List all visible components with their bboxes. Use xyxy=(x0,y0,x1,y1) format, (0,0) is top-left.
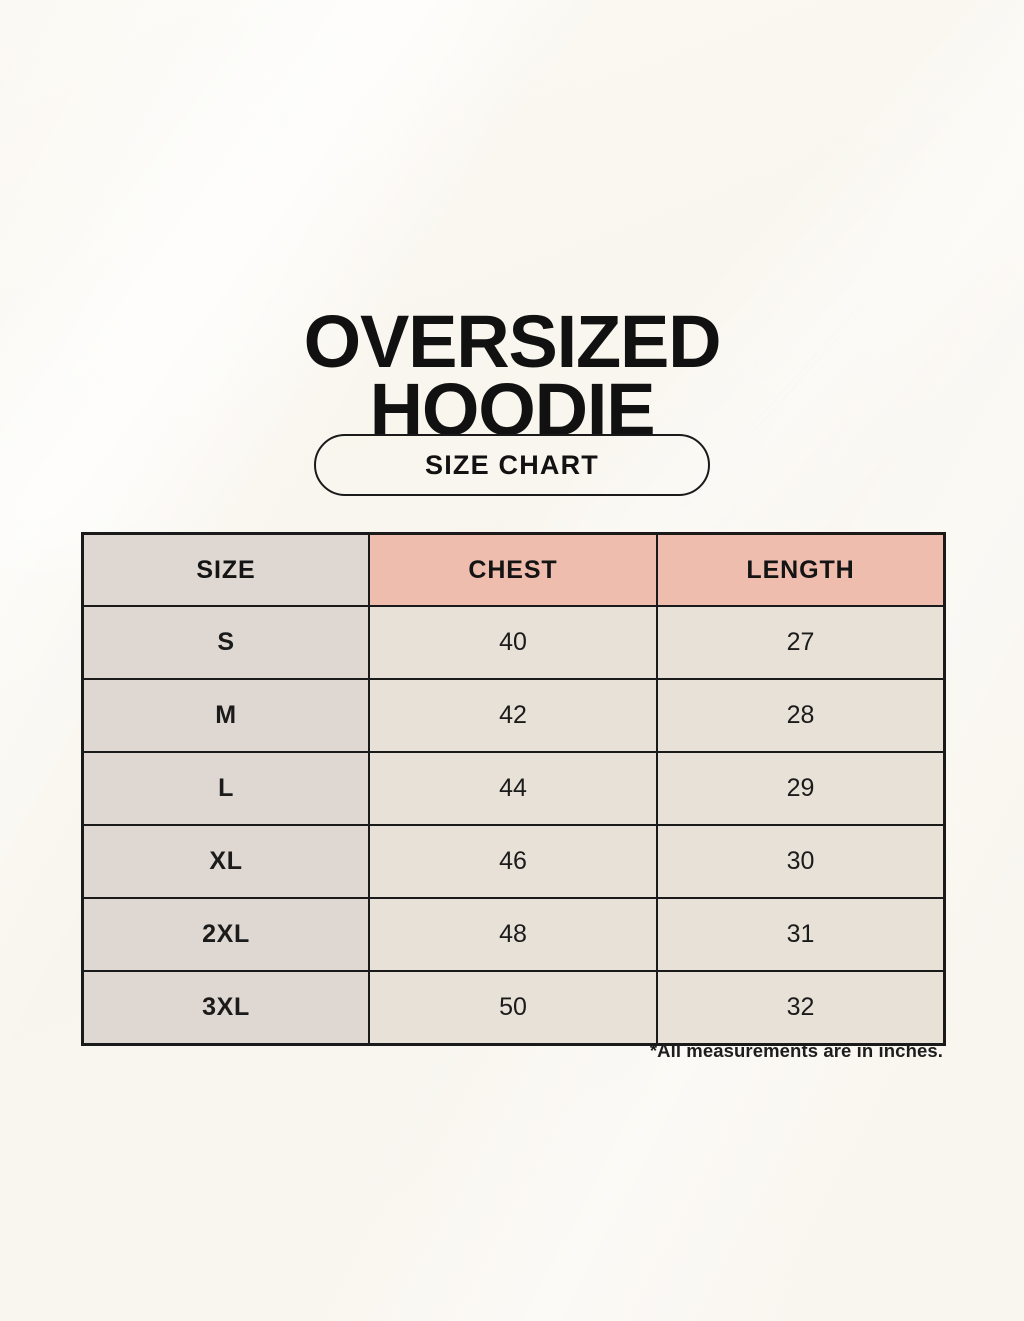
cell-length: 31 xyxy=(657,898,944,971)
size-chart-poster: OVERSIZED HOODIE SIZE CHART SIZE CHEST L… xyxy=(0,0,1024,1321)
cell-size: M xyxy=(83,679,369,752)
cell-chest: 44 xyxy=(369,752,657,825)
cell-chest: 46 xyxy=(369,825,657,898)
cell-length: 27 xyxy=(657,606,944,679)
table-row: 3XL 50 32 xyxy=(83,971,944,1044)
cell-length: 29 xyxy=(657,752,944,825)
column-header-chest: CHEST xyxy=(369,534,657,606)
badge-container: SIZE CHART xyxy=(0,434,1024,496)
table-row: XL 46 30 xyxy=(83,825,944,898)
cell-size: 2XL xyxy=(83,898,369,971)
size-chart-table: SIZE CHEST LENGTH S 40 27 M 42 28 xyxy=(82,533,945,1045)
cell-size: L xyxy=(83,752,369,825)
cell-length: 30 xyxy=(657,825,944,898)
cell-chest: 48 xyxy=(369,898,657,971)
table-header: SIZE CHEST LENGTH xyxy=(83,534,944,606)
page-title: OVERSIZED HOODIE xyxy=(0,308,1024,444)
table-row: M 42 28 xyxy=(83,679,944,752)
table-header-row: SIZE CHEST LENGTH xyxy=(83,534,944,606)
table-row: L 44 29 xyxy=(83,752,944,825)
column-header-length: LENGTH xyxy=(657,534,944,606)
size-chart-table-container: SIZE CHEST LENGTH S 40 27 M 42 28 xyxy=(82,533,943,1045)
cell-length: 32 xyxy=(657,971,944,1044)
table-row: 2XL 48 31 xyxy=(83,898,944,971)
cell-length: 28 xyxy=(657,679,944,752)
table-row: S 40 27 xyxy=(83,606,944,679)
cell-size: 3XL xyxy=(83,971,369,1044)
cell-chest: 50 xyxy=(369,971,657,1044)
cell-size: XL xyxy=(83,825,369,898)
cell-size: S xyxy=(83,606,369,679)
column-header-size: SIZE xyxy=(83,534,369,606)
cell-chest: 42 xyxy=(369,679,657,752)
table-body: S 40 27 M 42 28 L 44 29 XL xyxy=(83,606,944,1044)
cell-chest: 40 xyxy=(369,606,657,679)
measurement-footnote: *All measurements are in inches. xyxy=(82,1040,943,1062)
size-chart-badge: SIZE CHART xyxy=(314,434,710,496)
